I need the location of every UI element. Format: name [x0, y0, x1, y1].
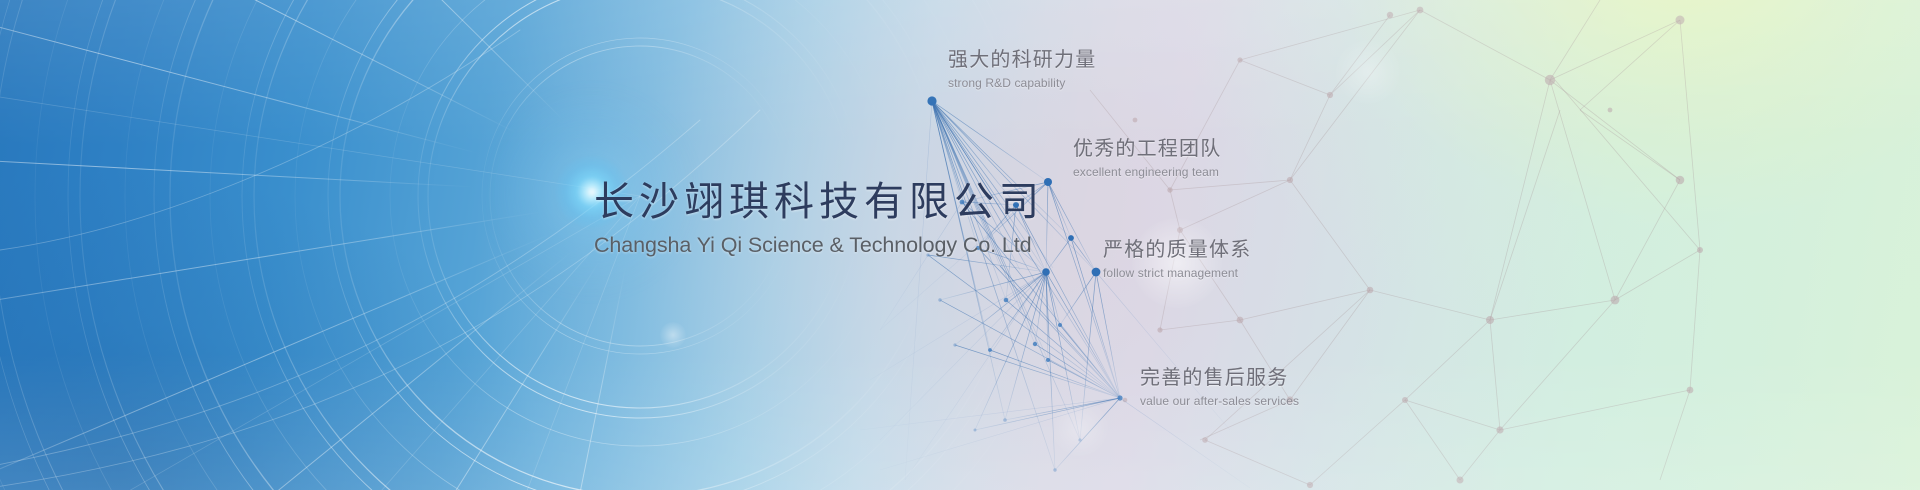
soft-orb-accent-b: [1336, 40, 1400, 104]
feature-rd-cn: 强大的科研力量: [948, 48, 1096, 74]
company-hero-banner: 长沙翊琪科技有限公司 Changsha Yi Qi Science & Tech…: [0, 0, 1920, 490]
feature-aftersales-cn: 完善的售后服务: [1140, 366, 1299, 392]
feature-label-aftersales: 完善的售后服务 value our after-sales services: [1140, 366, 1299, 409]
feature-label-team: 优秀的工程团队 excellent engineering team: [1073, 137, 1221, 180]
feature-label-quality: 严格的质量体系 follow strict management: [1103, 238, 1251, 281]
feature-quality-cn: 严格的质量体系: [1103, 238, 1251, 264]
company-name-cn: 长沙翊琪科技有限公司: [594, 178, 1024, 227]
company-name-en: Changsha Yi Qi Science & Technology Co. …: [594, 233, 1024, 258]
soft-orb-accent-d: [660, 322, 686, 348]
feature-team-en: excellent engineering team: [1073, 165, 1221, 181]
soft-orb-accent-c: [1052, 400, 1108, 456]
feature-label-rd: 强大的科研力量 strong R&D capability: [948, 48, 1096, 91]
feature-rd-en: strong R&D capability: [948, 76, 1096, 92]
feature-team-cn: 优秀的工程团队: [1073, 137, 1221, 163]
company-title-block: 长沙翊琪科技有限公司 Changsha Yi Qi Science & Tech…: [594, 178, 1024, 258]
feature-aftersales-en: value our after-sales services: [1140, 394, 1299, 410]
feature-quality-en: follow strict management: [1103, 266, 1251, 282]
